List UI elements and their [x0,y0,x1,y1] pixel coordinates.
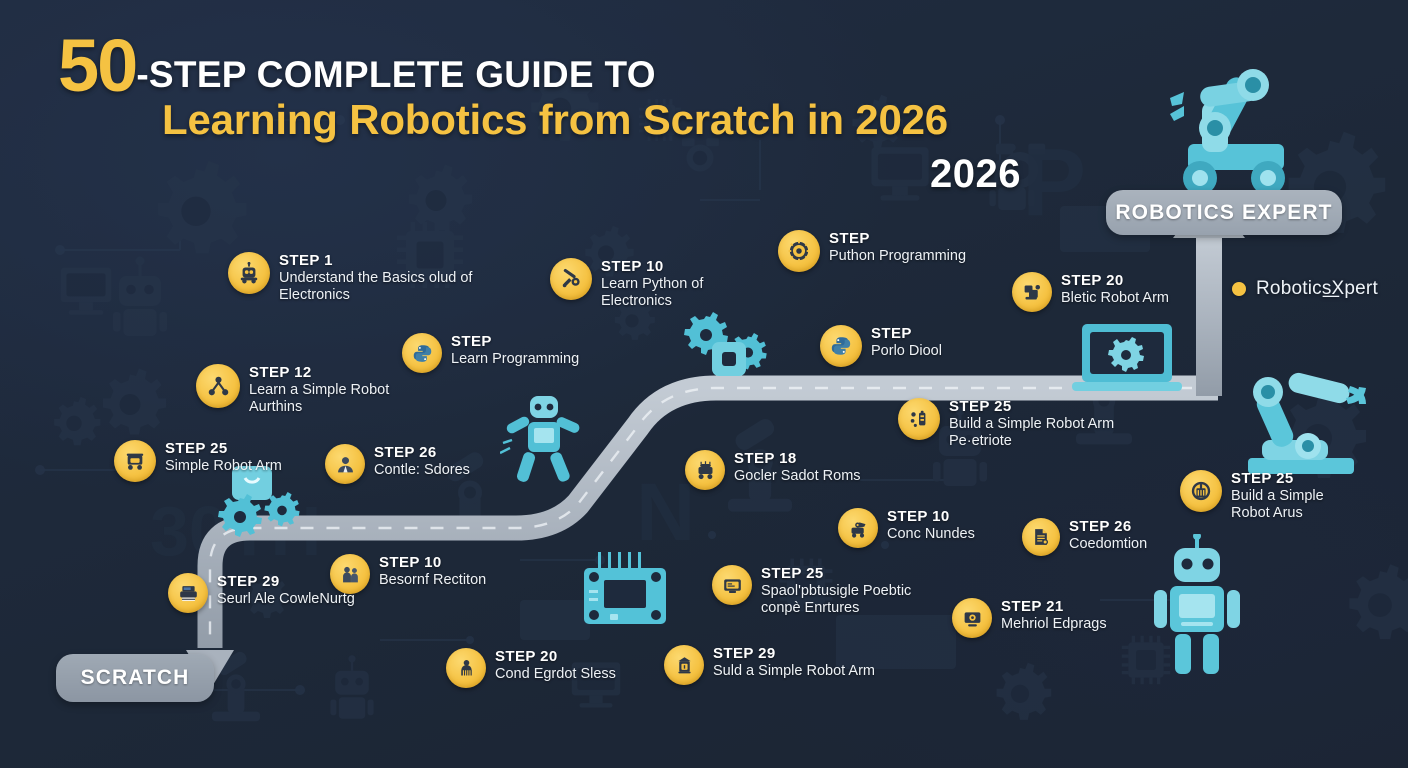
step-text: STEP 20Cond Egrdot Sless [495,648,616,683]
step-description: Coedomtion [1069,536,1147,553]
step-number: STEP [829,231,966,248]
step-number: STEP 25 [761,566,911,583]
step-text: STEPLearn Programming [451,333,579,368]
gears-cluster-art [680,312,776,391]
step-number: STEP [451,334,579,351]
step-text: STEP 18Gocler Sadot Roms [734,450,861,485]
step-text: STEP 25Build a Simple Robot Arm Pe·etrio… [949,398,1114,450]
step-number: STEP 1 [279,253,472,270]
step-description: Suld a Simple Robot Arm [713,663,875,680]
step-node[interactable]: STEP 10Learn Python of Electronics [550,258,703,310]
step-description: Mehriol Edprags [1001,616,1107,633]
step-description: Spaol'pbtusigle Poebtic conpè Enrtures [761,583,911,617]
step-text: STEP 10Learn Python of Electronics [601,258,703,310]
step-number: STEP 25 [165,441,282,458]
step-number: STEP [871,326,942,343]
person-icon [325,444,365,484]
step-text: STEP 26Contle: Sdores [374,444,470,479]
step-node[interactable]: STEPPuthon Programming [778,230,966,272]
step-text: STEP 10Conc Nundes [887,508,975,543]
step-node[interactable]: STEP 21Mehriol Edprags [952,598,1107,638]
robot-cart-icon [114,440,156,482]
step-description: Learn Programming [451,351,579,368]
step-text: STEP 20Bletic Robot Arm [1061,272,1169,307]
step-node[interactable]: STEP 1Understand the Basics olud of Elec… [228,252,472,304]
step-node[interactable]: STEP 12Learn a Simple Robot Aurthins [196,364,389,416]
step-number: STEP 18 [734,451,861,468]
start-badge-scratch[interactable]: SCRATCH [56,654,214,702]
step-number: STEP 29 [217,574,355,591]
step-number: STEP 26 [374,445,470,462]
step-text: STEP 25Spaol'pbtusigle Poebtic conpè Enr… [761,565,911,617]
step-text: STEP 29Suld a Simple Robot Arm [713,645,875,680]
step-description: Bletic Robot Arm [1061,290,1169,307]
printer-icon [168,573,208,613]
step-number: STEP 25 [949,399,1114,416]
step-node[interactable]: STEP 29Seurl Ale CowleNurtg [168,573,355,613]
step-node[interactable]: STEP 29Suld a Simple Robot Arm [664,645,875,685]
legend-label: Robotics͟Xpert [1256,278,1378,300]
step-number: STEP 20 [1061,273,1169,290]
step-node[interactable]: STEP 25Build a Simple Robot Arus [1180,470,1324,522]
step-text: STEP 10Besornf Rectiton [379,554,486,589]
step-description: Learn a Simple Robot Aurthins [249,382,389,416]
rover-icon [685,450,725,490]
step-description: Gocler Sadot Roms [734,468,861,485]
step-description: Understand the Basics olud of Electronic… [279,270,472,304]
step-number: STEP 29 [713,646,875,663]
step-description: Besornf Rectiton [379,572,486,589]
step-node[interactable]: STEPPorlo Diool [820,325,942,367]
step-text: STEP 26Coedomtion [1069,518,1147,553]
robot-face-icon [228,252,270,294]
step-text: STEP 25Build a Simple Robot Arus [1231,470,1324,522]
step-description: Porlo Diool [871,343,942,360]
end-badge-robotics-expert[interactable]: ROBOTICS EXPERT [1106,190,1342,235]
step-node[interactable]: STEP 26Contle: Sdores [325,444,470,484]
step-text: STEP 21Mehriol Edprags [1001,598,1107,633]
monitor-icon [952,598,992,638]
step-node[interactable]: STEP 25Spaol'pbtusigle Poebtic conpè Enr… [712,565,911,617]
step-node[interactable]: STEP 25Simple Robot Arm [114,440,282,482]
step-number: STEP 10 [379,555,486,572]
step-description: Puthon Programming [829,248,966,265]
document-icon [1022,518,1060,556]
title-line-2: Learning Robotics from Scratch in 2026 [162,96,1068,144]
step-node[interactable]: STEP 10Conc Nundes [838,508,975,548]
step-text: STEP 1Understand the Basics olud of Elec… [279,252,472,304]
page-title: 50 -STEP COMPLETE GUIDE TO Learning Robo… [58,34,1068,144]
rover-arm-icon [838,508,878,548]
robot-arm-vehicle-top-art [1140,58,1330,203]
step-number: STEP 10 [887,509,975,526]
title-suffix: -STEP COMPLETE GUIDE TO [136,54,655,96]
running-robot-art [500,390,588,499]
step-number: STEP 25 [1231,471,1324,488]
step-text: STEP 25Simple Robot Arm [165,440,282,475]
step-node[interactable]: STEP 25Build a Simple Robot Arm Pe·etrio… [898,398,1114,450]
step-description: Build a Simple Robot Arm Pe·etriote [949,416,1114,450]
step-description: Seurl Ale CowleNurtg [217,591,355,608]
infographic-canvas: P N 30TH [0,0,1408,768]
wrench-node-icon [196,364,240,408]
step-description: Cond Egrdot Sless [495,666,616,683]
svg-text:30TH: 30TH [150,492,321,570]
tools-icon [550,258,592,300]
person-desk-icon [446,648,486,688]
step-node[interactable]: STEP 18Gocler Sadot Roms [685,450,861,490]
legend-dot-icon [1232,282,1246,296]
legend-robotics-expert: Robotics͟Xpert [1232,278,1378,300]
humanoid-robot-art [1148,534,1248,685]
gear-ring-icon [778,230,820,272]
step-number: STEP 12 [249,365,389,382]
python-icon [402,333,442,373]
step-number: STEP 26 [1069,519,1147,536]
step-node[interactable]: STEP 26Coedomtion [1022,518,1147,556]
step-number: STEP 10 [601,259,703,276]
title-number: 50 [58,34,136,98]
title-line-1: 50 -STEP COMPLETE GUIDE TO [58,34,1068,100]
step-node[interactable]: STEP 20Cond Egrdot Sless [446,648,616,688]
step-number: STEP 21 [1001,599,1107,616]
step-text: STEP 29Seurl Ale CowleNurtg [217,573,355,608]
gear-coin-icon [1180,470,1222,512]
step-description: Conc Nundes [887,526,975,543]
battery-parts-icon [898,398,940,440]
step-description: Contle: Sdores [374,462,470,479]
screen-icon [712,565,752,605]
python-icon [820,325,862,367]
step-node[interactable]: STEPLearn Programming [402,333,579,373]
robot-arm-box-icon [1012,272,1052,312]
step-text: STEP 12Learn a Simple Robot Aurthins [249,364,389,416]
step-text: STEPPuthon Programming [829,230,966,265]
svg-text:P: P [1022,129,1086,236]
step-description: Simple Robot Arm [165,458,282,475]
step-node[interactable]: STEP 20Bletic Robot Arm [1012,272,1169,312]
lantern-icon [664,645,704,685]
circuit-board-art [570,552,680,643]
laptop-gear-art [1068,318,1186,407]
step-description: Learn Python of Electronics [601,276,703,310]
step-text: STEPPorlo Diool [871,325,942,360]
title-year: 2026 [930,152,1021,197]
step-number: STEP 20 [495,649,616,666]
step-description: Build a Simple Robot Arus [1231,488,1324,522]
